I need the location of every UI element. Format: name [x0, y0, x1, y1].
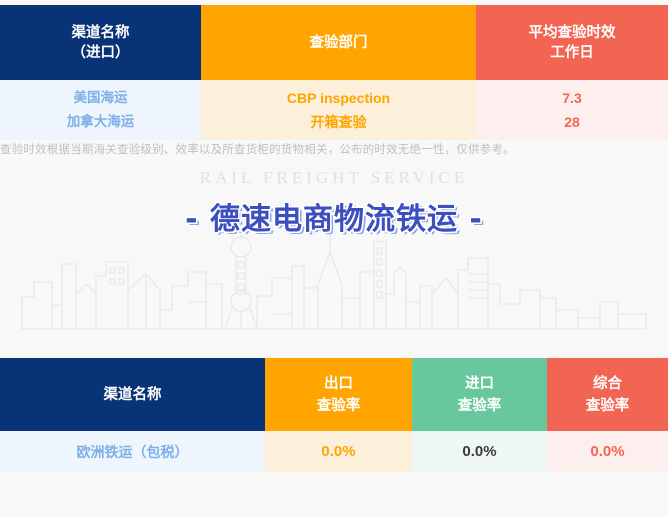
header-duration-line1: 平均查验时效: [529, 23, 616, 43]
duration-value-us: 7.3: [562, 86, 581, 110]
header-cell-channel-name: 渠道名称 （进口）: [0, 5, 201, 80]
cell-channel-names: 美国海运 加拿大海运: [0, 80, 201, 140]
header-channel-line1: 渠道名称: [72, 23, 130, 43]
header-department-label: 查验部门: [310, 33, 368, 53]
header-import-line1: 进口: [465, 373, 494, 395]
cell-channel-europe-rail: 欧洲铁运（包税）: [0, 431, 265, 472]
import-inspection-table: 渠道名称 （进口） 查验部门 平均查验时效 工作日 美国海运 加拿大海运 CBP…: [0, 5, 668, 140]
header-export-line2: 查验率: [317, 395, 361, 417]
watermark-english-text: RAIL FREIGHT SERVICE: [0, 168, 668, 188]
cell-import-rate: 0.0%: [412, 431, 547, 472]
channel-name-europe-rail: 欧洲铁运（包税）: [77, 442, 189, 462]
channel-name-canada-sea: 加拿大海运: [67, 110, 135, 134]
inspection-rate-table: 渠道名称 出口 查验率 进口 查验率 综合 查验率 欧洲铁运（包税） 0.0% …: [0, 358, 668, 472]
header-channel-line2: （进口）: [72, 43, 130, 63]
header-import-line2: 查验率: [458, 395, 502, 417]
duration-value-canada: 28: [564, 110, 580, 134]
watermark-text-group: RAIL FREIGHT SERVICE - 德速电商物流铁运 -: [0, 168, 668, 238]
cell-inspection-departments: CBP inspection 开箱查验: [201, 80, 476, 140]
export-rate-value: 0.0%: [321, 443, 355, 460]
header-cell-channel: 渠道名称: [0, 358, 265, 431]
header-overall-line2: 查验率: [586, 395, 630, 417]
header-channel-label: 渠道名称: [104, 384, 162, 406]
overall-rate-value: 0.0%: [590, 443, 624, 460]
header-overall-line1: 综合: [593, 373, 622, 395]
cell-average-durations: 7.3 28: [476, 80, 668, 140]
table-row: 欧洲铁运（包税） 0.0% 0.0% 0.0%: [0, 431, 668, 472]
import-rate-value: 0.0%: [462, 443, 496, 460]
header-cell-import-rate: 进口 查验率: [412, 358, 547, 431]
import-table-header-row: 渠道名称 （进口） 查验部门 平均查验时效 工作日: [0, 5, 668, 80]
header-export-line1: 出口: [324, 373, 353, 395]
header-duration-line2: 工作日: [550, 43, 594, 63]
cell-overall-rate: 0.0%: [547, 431, 668, 472]
cell-export-rate: 0.0%: [265, 431, 412, 472]
header-cell-inspection-department: 查验部门: [201, 5, 476, 80]
header-cell-average-duration: 平均查验时效 工作日: [476, 5, 668, 80]
header-cell-export-rate: 出口 查验率: [265, 358, 412, 431]
watermark-chinese-text: - 德速电商物流铁运 -: [0, 194, 668, 238]
department-cbp-inspection: CBP inspection: [287, 86, 390, 110]
watermark-banner: RAIL FREIGHT SERVICE - 德速电商物流铁运 -: [0, 158, 668, 358]
channel-name-us-sea: 美国海运: [74, 86, 128, 110]
rate-table-header-row: 渠道名称 出口 查验率 进口 查验率 综合 查验率: [0, 358, 668, 431]
department-open-box-inspection: 开箱查验: [311, 110, 367, 134]
table-row: 美国海运 加拿大海运 CBP inspection 开箱查验 7.3 28: [0, 80, 668, 140]
header-cell-overall-rate: 综合 查验率: [547, 358, 668, 431]
inspection-note-text: 查验时效根据当期海关查验级别、效率以及所查货柜的货物相关，公布的时效无绝一性，仅…: [0, 140, 668, 158]
